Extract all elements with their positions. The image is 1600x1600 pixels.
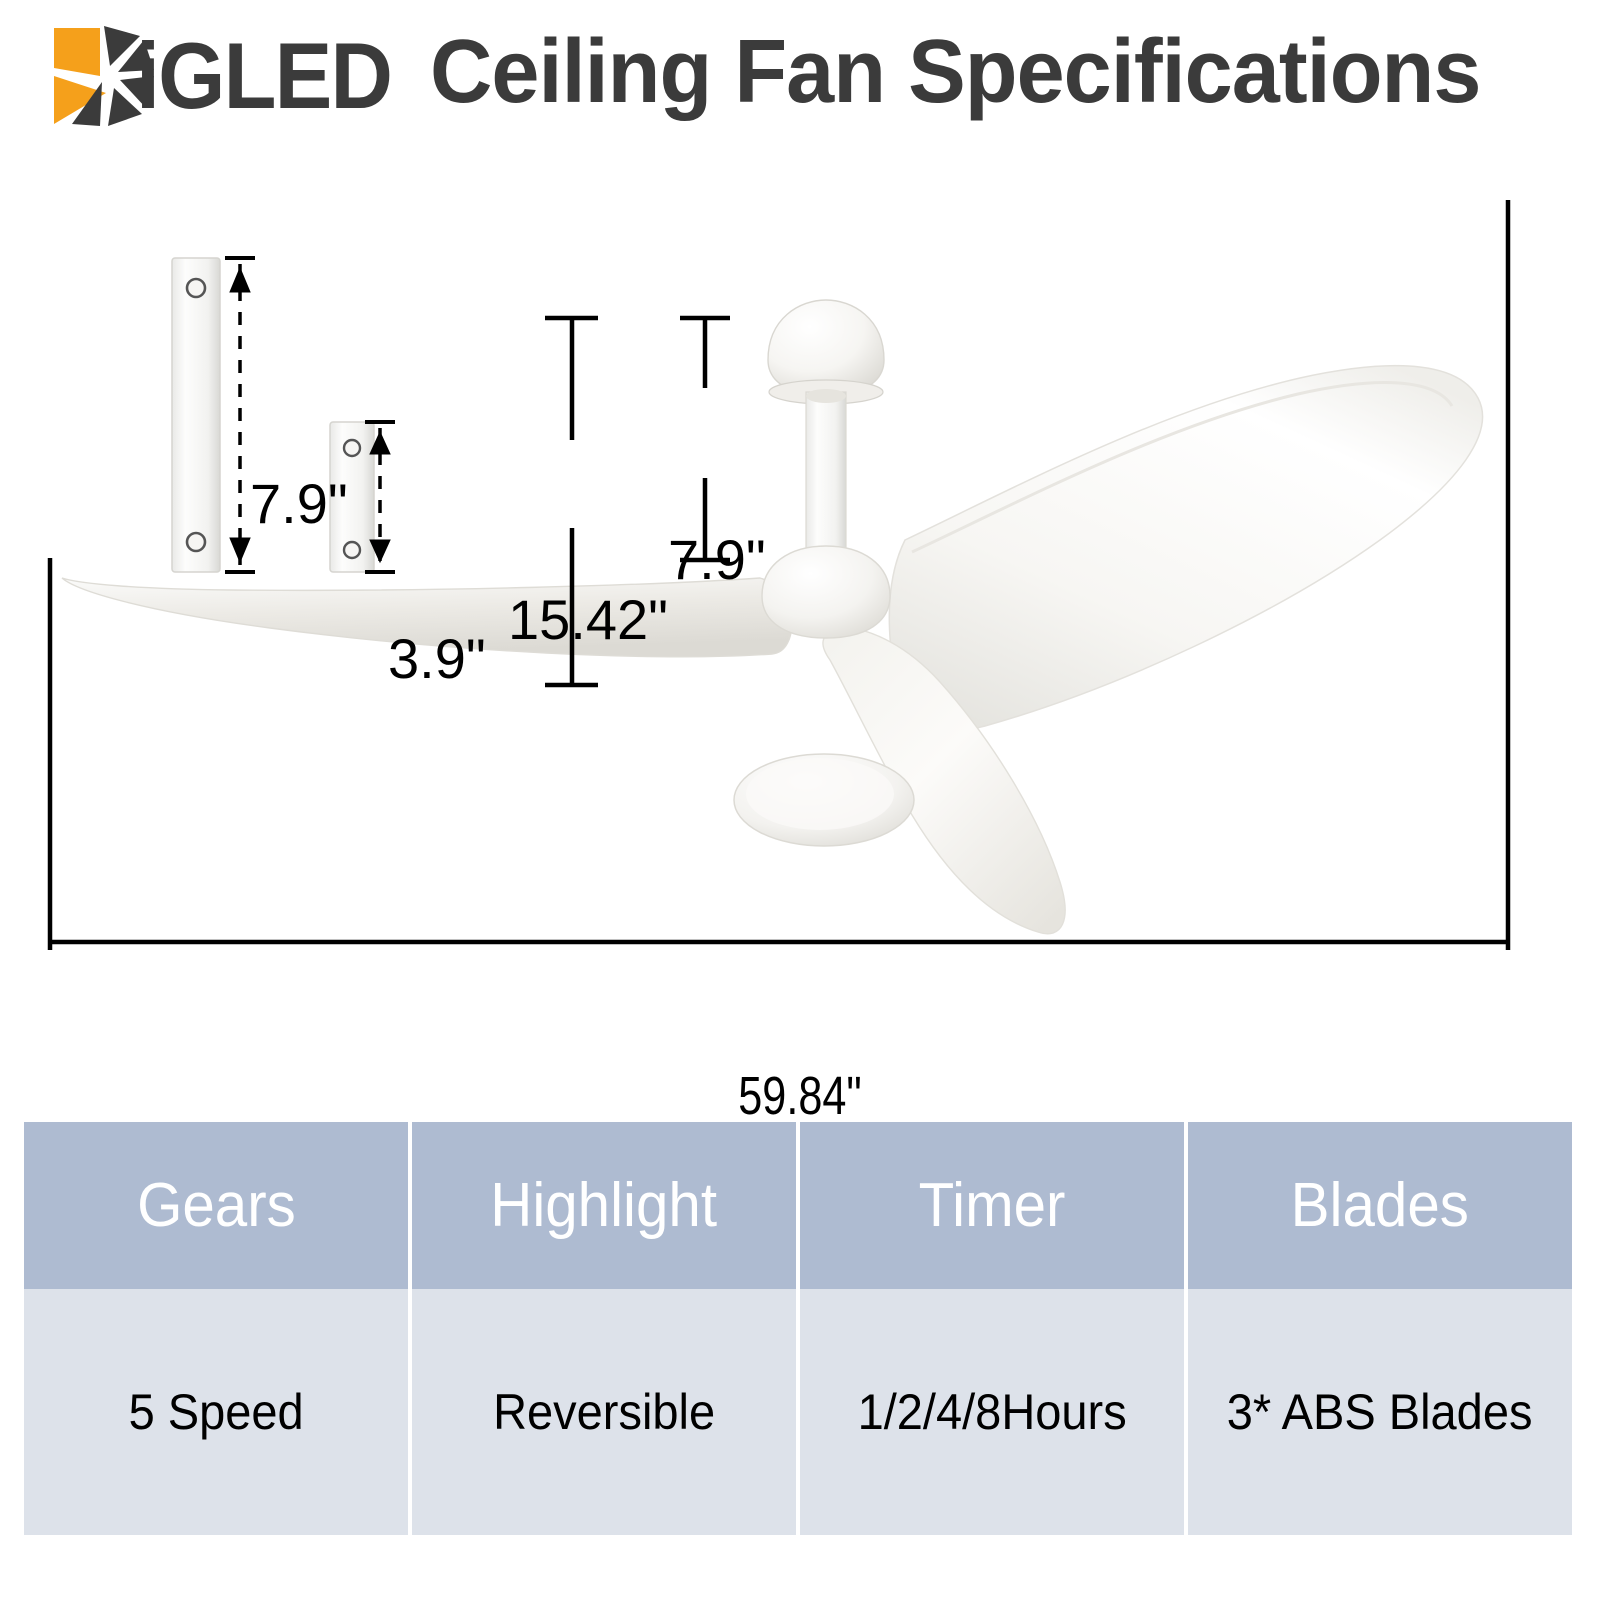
value-label-blades: 3* ABS Blades [1227, 1383, 1533, 1441]
fan-illustration [0, 160, 1600, 1060]
table-header-blades: Blades [1188, 1122, 1576, 1289]
light-kit [734, 754, 914, 846]
dimension-label-downrod-short: 3.9" [388, 631, 486, 687]
dimension-label-blade-span: 59.84" [160, 1068, 1440, 1124]
table-value-row: 5 Speed Reversible 1/2/4/8Hours 3* ABS B… [24, 1289, 1576, 1535]
dimension-label-drop-height: 7.9" [668, 532, 766, 588]
product-spec-page: iGLED Ceiling Fan Specifications [0, 0, 1600, 1600]
table-cell-highlight: Reversible [412, 1289, 800, 1535]
header-label-highlight: Highlight [491, 1170, 718, 1241]
dimension-drop-height [680, 318, 730, 560]
header-label-gears: Gears [137, 1170, 296, 1241]
table-header-timer: Timer [800, 1122, 1188, 1289]
ceiling-canopy [768, 300, 884, 404]
table-cell-gears: 5 Speed [24, 1289, 412, 1535]
value-label-timer: 1/2/4/8Hours [857, 1383, 1126, 1441]
table-header-gears: Gears [24, 1122, 412, 1289]
specifications-table: Gears Highlight Timer Blades 5 Speed Rev… [24, 1122, 1576, 1535]
brand-wordmark: iGLED [136, 24, 391, 128]
table-cell-blades: 3* ABS Blades [1188, 1289, 1576, 1535]
table-header-highlight: Highlight [412, 1122, 800, 1289]
motor-housing [762, 546, 890, 638]
header-label-timer: Timer [919, 1170, 1066, 1241]
table-cell-timer: 1/2/4/8Hours [800, 1289, 1188, 1535]
page-header: iGLED Ceiling Fan Specifications [0, 0, 1600, 160]
downrod-long-illustration [172, 258, 220, 572]
fan-downrod [806, 389, 846, 552]
fan-blade-top-right [889, 366, 1482, 731]
header-label-blades: Blades [1291, 1170, 1469, 1241]
table-header-row: Gears Highlight Timer Blades [24, 1122, 1576, 1289]
blade-span-text: 59.84" [725, 1066, 874, 1126]
value-label-highlight: Reversible [493, 1383, 715, 1441]
dimension-label-downrod-long: 7.9" [250, 476, 348, 532]
fan-diagram: 7.9" 3.9" 15.42" 7.9" 59.84" [0, 160, 1600, 1060]
dimension-label-total-height: 15.42" [508, 592, 668, 648]
value-label-gears: 5 Speed [128, 1383, 303, 1441]
page-title: Ceiling Fan Specifications [430, 20, 1480, 124]
brand-logo: iGLED [48, 18, 418, 136]
